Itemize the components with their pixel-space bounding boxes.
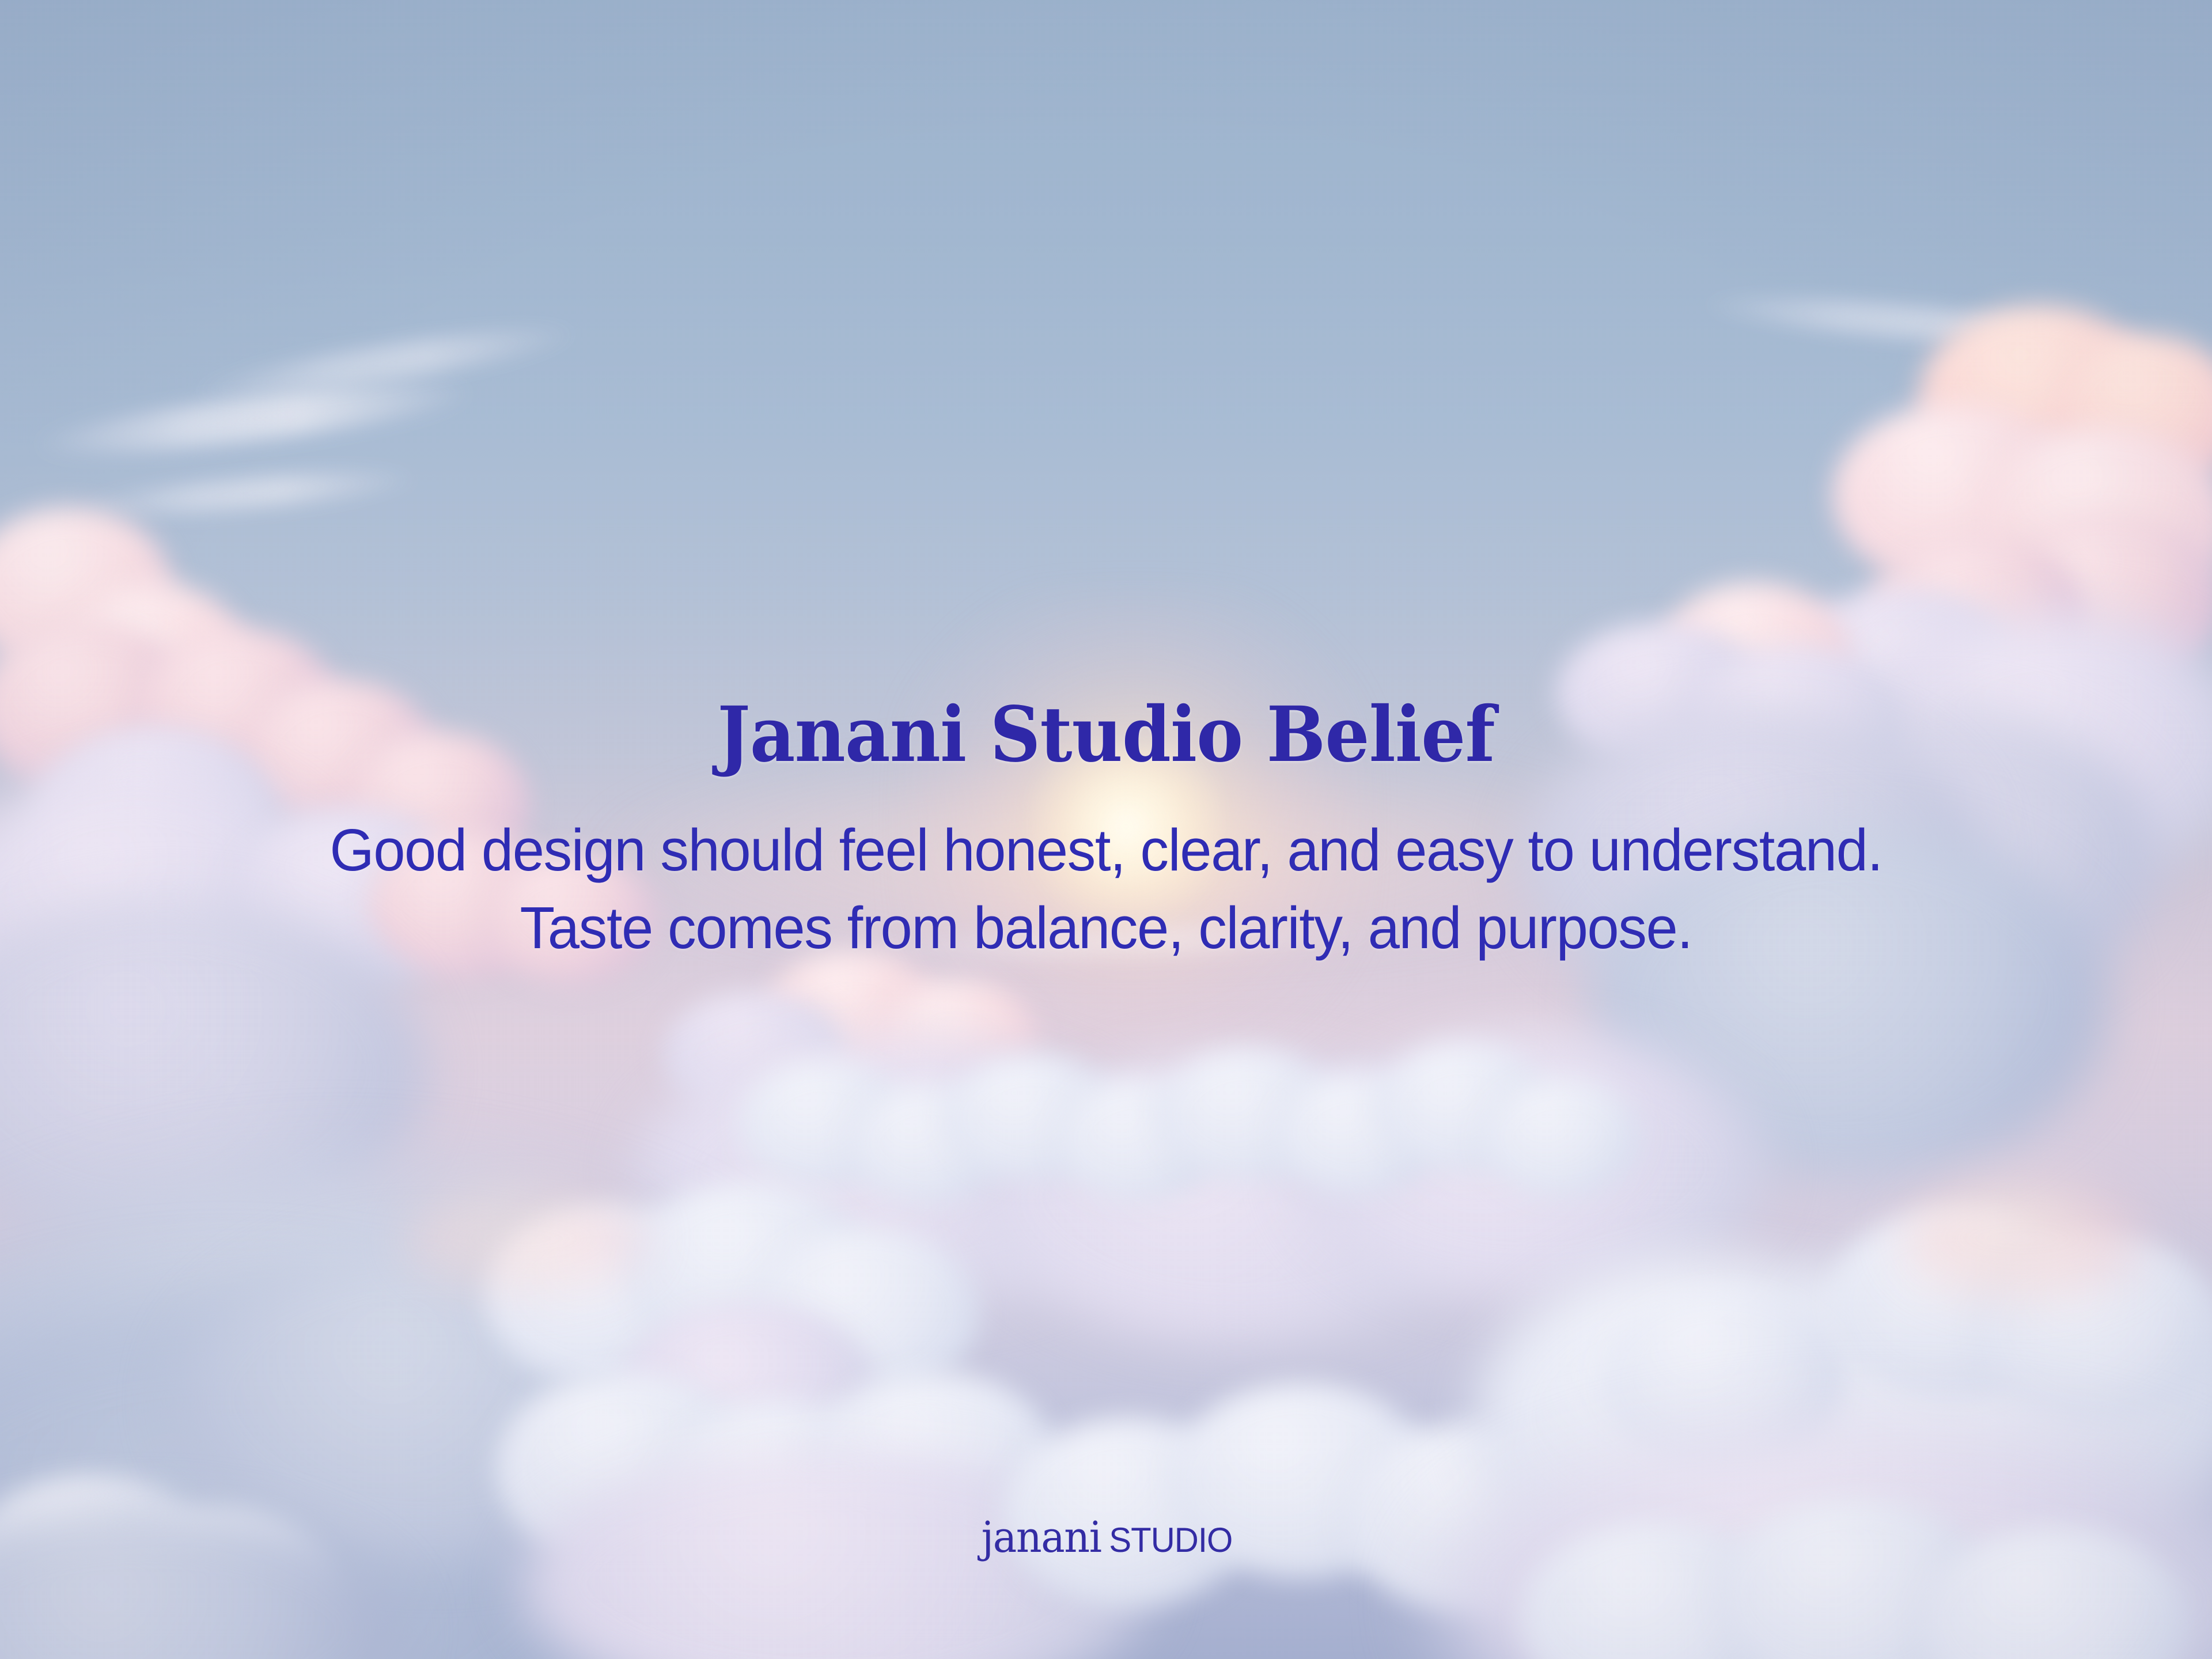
page-title: Janani Studio Belief: [89, 697, 2124, 773]
belief-line-1: Good design should feel honest, clear, a…: [39, 811, 2173, 889]
belief-statement: Good design should feel honest, clear, a…: [39, 811, 2173, 967]
logo-wordmark-janani: janani: [982, 1516, 1101, 1559]
text-content-layer: Janani Studio Belief Good design should …: [0, 0, 2212, 1659]
slide-canvas: Janani Studio Belief Good design should …: [0, 0, 2212, 1659]
belief-line-2: Taste comes from balance, clarity, and p…: [39, 889, 2173, 967]
brand-logo: jananiSTUDIO: [0, 1516, 2212, 1559]
logo-wordmark-studio: STUDIO: [1109, 1523, 1233, 1558]
